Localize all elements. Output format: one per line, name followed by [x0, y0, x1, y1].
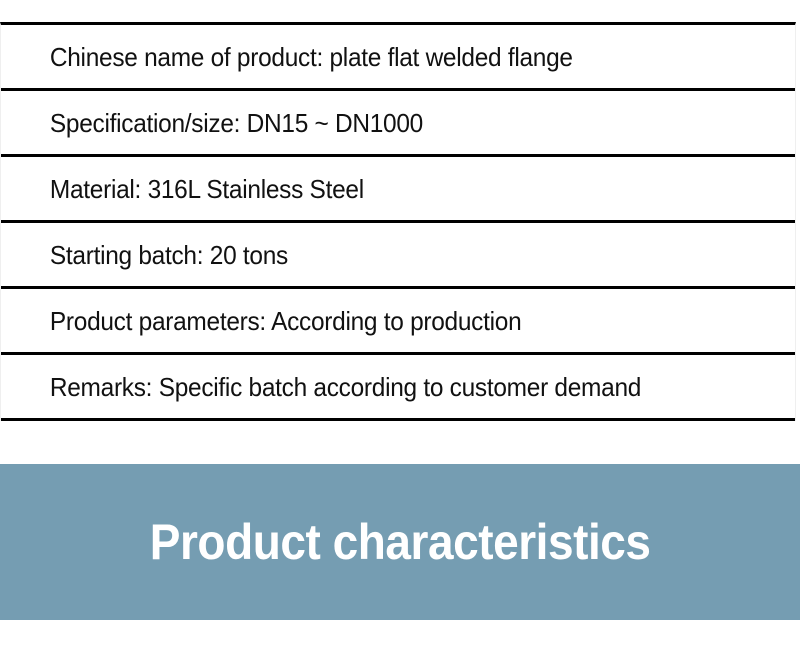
product-spec-table: Chinese name of product: plate flat weld…: [0, 22, 796, 421]
spec-row-label-starting-batch: Starting batch: 20 tons: [1, 242, 288, 268]
spec-row-label-product-parameters: Product parameters: According to product…: [1, 308, 521, 334]
table-row: Chinese name of product: plate flat weld…: [1, 25, 795, 91]
spec-row-label-remarks: Remarks: Specific batch according to cus…: [1, 374, 641, 400]
table-row: Specification/size: DN15 ~ DN1000: [1, 91, 795, 157]
table-row: Remarks: Specific batch according to cus…: [1, 355, 795, 421]
spec-row-label-material: Material: 316L Stainless Steel: [1, 176, 364, 202]
product-characteristics-banner: Product characteristics: [0, 464, 800, 620]
banner-title: Product characteristics: [150, 517, 651, 567]
table-row: Product parameters: According to product…: [1, 289, 795, 355]
table-row: Material: 316L Stainless Steel: [1, 157, 795, 223]
product-spec-page: Chinese name of product: plate flat weld…: [0, 0, 800, 650]
spec-row-label-specification-size: Specification/size: DN15 ~ DN1000: [1, 110, 423, 136]
table-row: Starting batch: 20 tons: [1, 223, 795, 289]
spec-row-label-chinese-name: Chinese name of product: plate flat weld…: [1, 44, 573, 70]
